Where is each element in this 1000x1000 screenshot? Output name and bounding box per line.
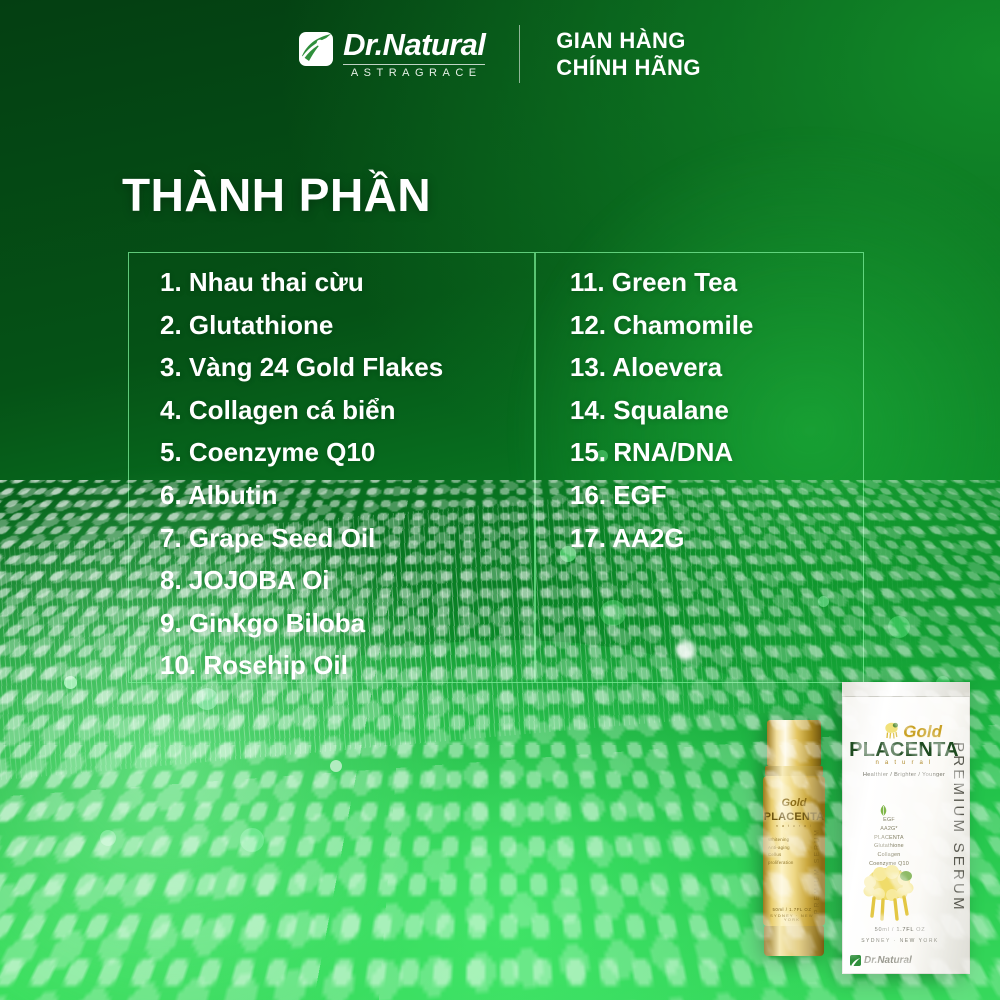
ingredients-left-column: 1. Nhau thai cừu 2. Glutathione 3. Vàng …	[129, 253, 533, 682]
brand-name: Dr.Natural	[343, 29, 485, 60]
product-bottle: Gold PLACENTA n a t u r a l Whitening An…	[761, 720, 827, 956]
ingredients-frame: 1. Nhau thai cừu 2. Glutathione 3. Vàng …	[128, 252, 864, 683]
carton-claim-text: Healthier / Brighter / Younger	[849, 773, 959, 779]
carton-product-name: PLACENTA	[849, 740, 959, 760]
carton-top-flap	[842, 682, 970, 697]
carton-cities: SYDNEY · NEW YORK	[848, 939, 952, 944]
promo-banner: Dr.Natural ASTRAGRACE GIAN HÀNG CHÍNH HÃ…	[0, 0, 1000, 1000]
ingredient-item: 2. Glutathione	[160, 312, 533, 338]
sheep-icon	[883, 720, 900, 740]
bottle-cap	[767, 720, 821, 766]
ingredient-item: 9. Ginkgo Biloba	[160, 610, 533, 636]
carton-gold-lockup: Gold	[850, 710, 942, 740]
carton-premium-serum-text: PREMIUM SERUM	[951, 742, 966, 913]
carton-brand-lockup: Dr.Natural	[850, 955, 912, 966]
carton-brand-name: Dr.Natural	[864, 956, 912, 966]
header: Dr.Natural ASTRAGRACE GIAN HÀNG CHÍNH HÃ…	[0, 0, 1000, 108]
bottle-premium-serum-text: PREMIUM SERUM	[814, 828, 821, 914]
sheep-icon	[856, 864, 920, 922]
product-shot: PREMIUM SERUM Gold PLACENTA n a t u r a …	[755, 652, 970, 982]
product-carton: PREMIUM SERUM Gold PLACENTA n a t u r a …	[842, 682, 970, 974]
ingredients-right-column: 11. Green Tea 12. Chamomile 13. Aloevera…	[533, 253, 863, 682]
bokeh-dot	[64, 676, 77, 689]
ingredient-item: 3. Vàng 24 Gold Flakes	[160, 354, 533, 380]
brand-divider-rule	[343, 64, 485, 65]
bottle-volume: 50ml / 1.7FL OZ	[761, 908, 823, 912]
leaf-swoosh-icon	[850, 955, 861, 966]
ingredient-item: 15. RNA/DNA	[570, 439, 863, 465]
ingredient-item: 17. AA2G	[570, 525, 863, 551]
tagline-line-1: GIAN HÀNG	[556, 27, 701, 55]
bokeh-dot	[196, 688, 218, 710]
brand-lockup: Dr.Natural ASTRAGRACE	[299, 29, 519, 79]
carton-volume: 50ml / 1.7FL OZ	[848, 928, 952, 934]
ingredient-item: 10. Rosehip Oil	[160, 652, 533, 678]
ingredient-item: 14. Squalane	[570, 397, 863, 423]
brand-words: Dr.Natural ASTRAGRACE	[343, 29, 485, 79]
ingredient-item: 11. Green Tea	[570, 269, 863, 295]
carton-product-name-sub: n a t u r a l	[849, 760, 959, 766]
bottle-cities: SYDNEY · NEW YORK	[761, 914, 823, 922]
ingredient-item: 7. Grape Seed Oil	[160, 525, 533, 551]
carton-gold-word: Gold	[903, 723, 942, 740]
bokeh-dot	[240, 828, 264, 852]
leaf-swoosh-icon	[299, 32, 333, 66]
bokeh-dot	[330, 760, 342, 772]
bottle-base	[764, 926, 824, 956]
official-store-tagline: GIAN HÀNG CHÍNH HÃNG	[520, 27, 701, 82]
bottle-product-name: PLACENTA	[763, 812, 825, 823]
ingredient-item: 16. EGF	[570, 482, 863, 508]
bottle-body: Gold PLACENTA n a t u r a l Whitening An…	[763, 776, 825, 926]
page-title: THÀNH PHẦN	[122, 168, 431, 222]
bottle-claims: Whitening Anti-aging Cellus proliferatio…	[768, 836, 804, 867]
bokeh-dot	[100, 830, 116, 846]
ingredient-item: 4. Collagen cá biển	[160, 397, 533, 423]
ingredient-item: 6. Albutin	[160, 482, 533, 508]
ingredient-item: 13. Aloevera	[570, 354, 863, 380]
column-divider	[534, 253, 536, 682]
ingredient-item: 8. JOJOBA Oi	[160, 567, 533, 593]
bottle-gold-word: Gold	[763, 798, 825, 809]
bottle-collar	[765, 766, 823, 776]
ingredient-item: 5. Coenzyme Q10	[160, 439, 533, 465]
brand-subtitle: ASTRAGRACE	[347, 68, 482, 79]
tagline-line-2: CHÍNH HÃNG	[556, 54, 701, 82]
bokeh-dot	[888, 616, 910, 638]
ingredient-item: 1. Nhau thai cừu	[160, 269, 533, 295]
ingredient-item: 12. Chamomile	[570, 312, 863, 338]
